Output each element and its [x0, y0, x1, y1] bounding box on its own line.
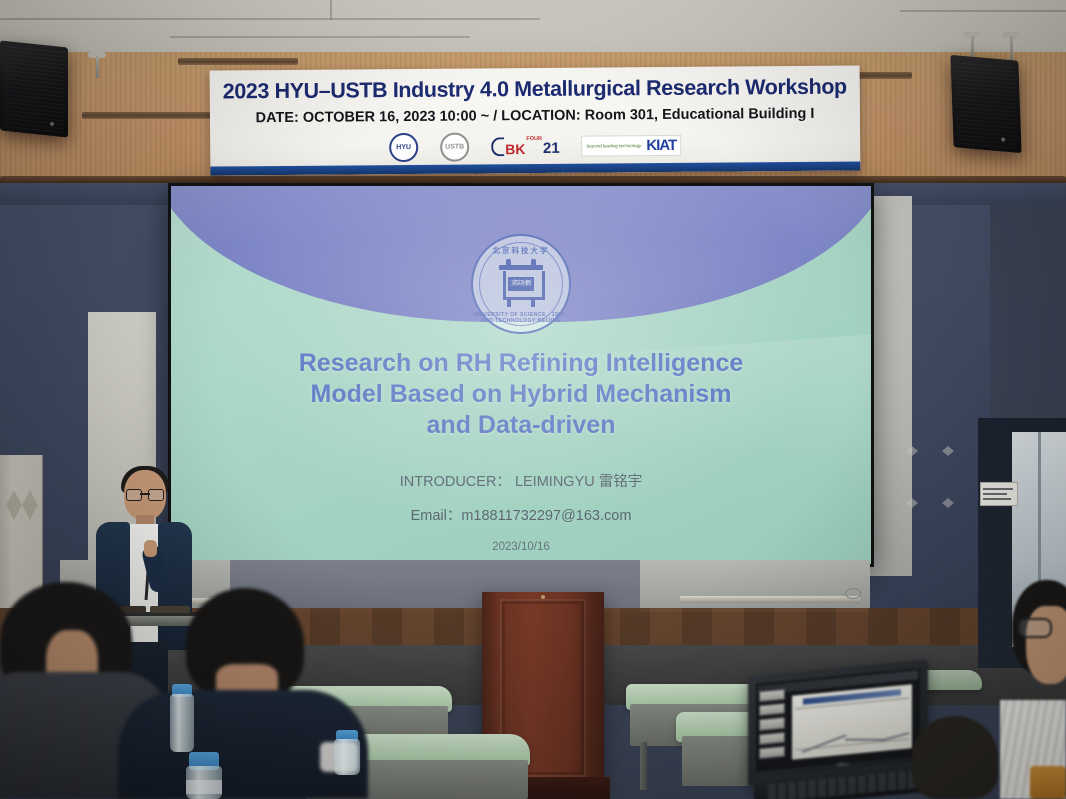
bk21-logo-icon: BK FOUR 21 [491, 136, 560, 156]
sign-text-line [983, 488, 1013, 490]
glasses-bridge [140, 493, 150, 495]
hyu-seal-icon: HYU [389, 132, 418, 161]
attendee-item-orange [1030, 766, 1066, 799]
banner-title: 2023 HYU–USTB Industry 4.0 Metallurgical… [210, 74, 860, 104]
slide-title-line-3: and Data-driven [231, 410, 811, 441]
bottle-body [170, 694, 194, 752]
attendee-head [912, 716, 998, 799]
slide-thumbnail [759, 703, 785, 717]
slide-title-line-2: Model Based on Hybrid Mechanism [231, 379, 811, 410]
chart-line [845, 738, 885, 740]
ceiling-speaker-right [950, 55, 1021, 153]
ding-foot [531, 299, 535, 307]
slide-title-line-1: Research on RH Refining Intelligence [231, 348, 811, 379]
door-notice-sign [980, 482, 1018, 506]
bk21-bk-label: BK [505, 142, 525, 156]
slide-email: Email：m18811732297@163.com [171, 504, 871, 525]
wood-trim-rail [178, 58, 298, 65]
banner-subtitle: DATE: OCTOBER 16, 2023 10:00 ~ / LOCATIO… [210, 105, 860, 126]
workshop-banner: 2023 HYU–USTB Industry 4.0 Metallurgical… [210, 65, 861, 175]
slide-date: 2023/10/16 [171, 541, 871, 553]
bk21-four-label: FOUR [526, 136, 542, 142]
slide-title: Research on RH Refining Intelligence Mod… [171, 348, 871, 441]
board-tray [680, 596, 860, 603]
bk21-num-label: 21 [543, 140, 560, 155]
ustb-seal-arc-bottom: UNIVERSITY OF SCIENCE · 1952 · AND TECHN… [473, 312, 569, 324]
ustb-seal-icon: USTB [440, 132, 469, 161]
presenter-glasses-icon [126, 489, 164, 499]
sign-text-line [983, 493, 1007, 495]
ustb-logo: 北京科技大学 求实创新 UNIVERSITY OF SCIENCE · 1952… [471, 234, 571, 334]
projection-screen: 北京科技大学 求实创新 UNIVERSITY OF SCIENCE · 1952… [168, 183, 874, 567]
ding-inscription: 求实创新 [508, 277, 534, 291]
board-eraser [845, 588, 861, 599]
slide-thumbnail [759, 689, 785, 703]
presentation-slide: 北京科技大学 求实创新 UNIVERSITY OF SCIENCE · 1952… [171, 186, 871, 564]
bottle-label [186, 780, 222, 794]
desk-leg [640, 742, 647, 790]
speaker-led [50, 122, 54, 126]
glasses-lens [148, 489, 164, 501]
banner-logo-row: HYU USTB BK FOUR 21 beyond leading techn… [210, 128, 860, 163]
ding-ear [506, 259, 511, 268]
speaker-led [1001, 137, 1005, 141]
bottle-body [334, 739, 360, 775]
chart-line [881, 732, 909, 741]
ceiling-seam [330, 0, 332, 20]
photo-scene: 2023 HYU–USTB Industry 4.0 Metallurgical… [0, 0, 1066, 799]
ceiling-seam [900, 10, 1066, 12]
ding-foot [507, 299, 511, 307]
attendee-glasses-icon [1018, 618, 1052, 638]
slide-thumbnail [759, 731, 785, 745]
speaker-grille [955, 59, 1018, 149]
kiat-logo-icon: beyond leading technology KIAT [582, 134, 682, 156]
ceiling-seam [170, 36, 470, 38]
laptop-slide-chart [795, 698, 909, 751]
speaker-rod [96, 56, 99, 78]
kiat-tagline: beyond leading technology [587, 143, 642, 148]
kiat-wordmark: KIAT [646, 136, 676, 153]
laptop-current-slide [792, 684, 912, 760]
presenter-hand [144, 540, 157, 557]
slide-thumbnail [759, 717, 785, 731]
ding-vessel-icon: 求实创新 [499, 263, 543, 305]
slide-introducer: INTRODUCER： LEIMINGYU 雷铭宇 [171, 470, 871, 491]
glasses-lens [126, 489, 142, 501]
bottle-body [186, 766, 222, 799]
sign-text-line [983, 498, 1011, 500]
ding-ear [531, 259, 536, 268]
chart-line [802, 734, 847, 752]
bk21-arc-icon [491, 137, 504, 156]
ustb-seal-arc-top: 北京科技大学 [473, 245, 569, 256]
ceiling-speaker-left [0, 40, 68, 137]
speaker-grille [4, 45, 64, 133]
table-document [150, 606, 190, 613]
slide-thumbnail-strip [759, 689, 785, 760]
ceiling-seam [0, 18, 540, 20]
